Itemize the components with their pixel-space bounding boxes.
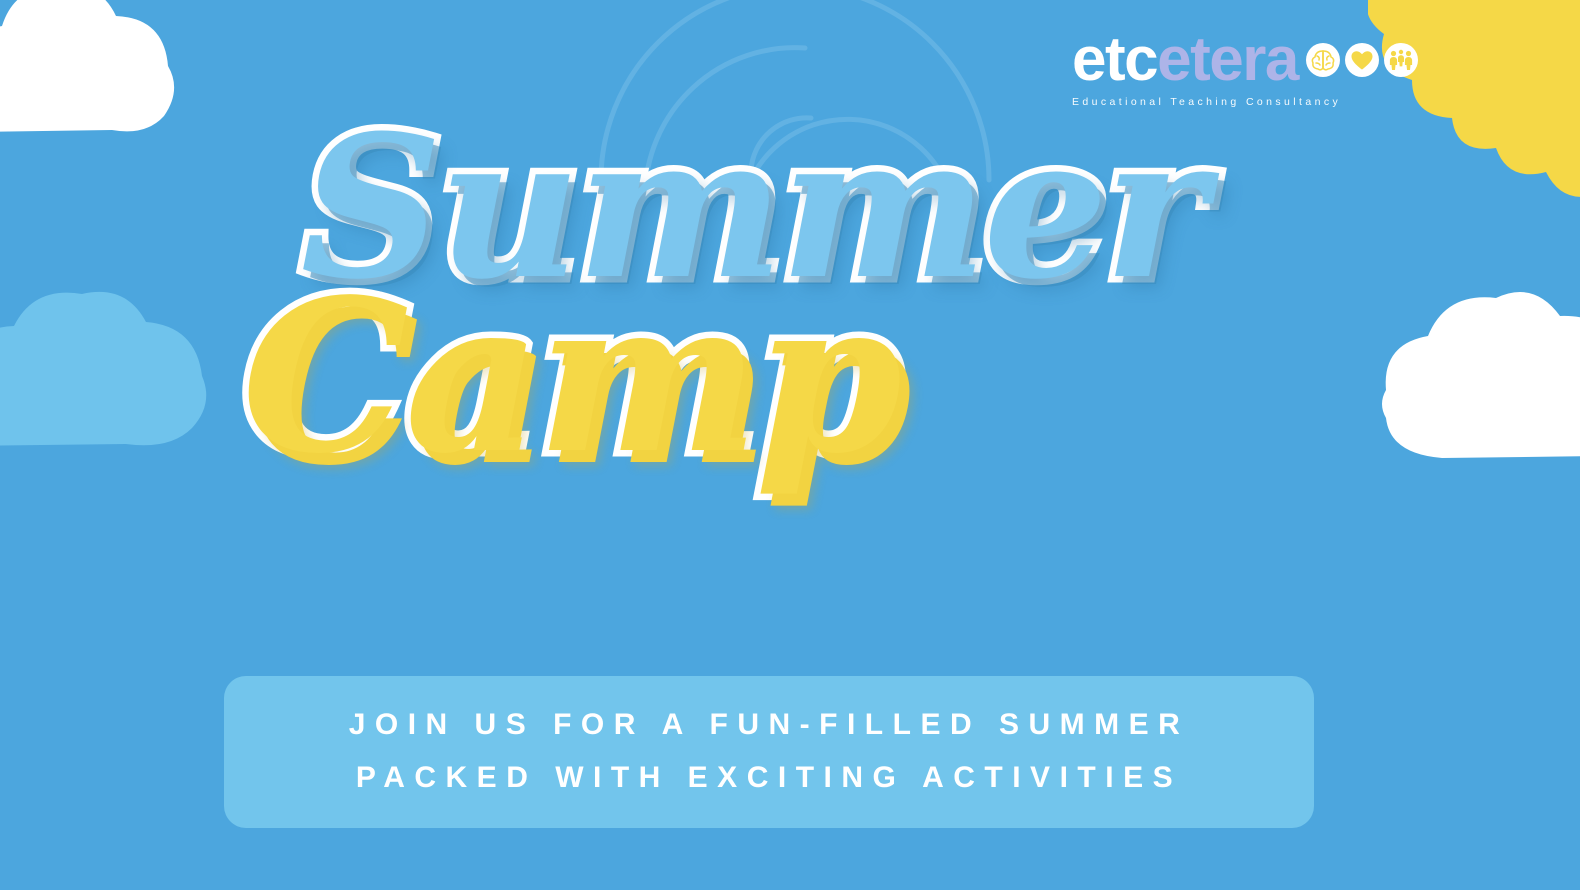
people-icon	[1384, 43, 1418, 77]
logo-icon-group	[1306, 43, 1418, 77]
logo-wordmark: etcetera	[1072, 28, 1532, 92]
headline-word-camp: Camp	[0, 280, 1360, 473]
logo-word-secondary: etera	[1157, 28, 1298, 92]
brand-logo[interactable]: etcetera	[1072, 28, 1532, 116]
poster-canvas: etcetera	[0, 0, 1580, 890]
brain-icon	[1306, 43, 1340, 77]
cloud-right-mid	[1372, 272, 1580, 467]
headline-group: Summer Camp	[0, 118, 1580, 492]
subtitle-line-2: PACKED WITH EXCITING ACTIVITIES	[254, 751, 1284, 804]
logo-tagline: Educational Teaching Consultancy	[1072, 96, 1532, 108]
logo-word-primary: etc	[1072, 28, 1157, 92]
subtitle-banner: JOIN US FOR A FUN-FILLED SUMMER PACKED W…	[224, 676, 1314, 828]
heart-icon	[1345, 43, 1379, 77]
subtitle-line-1: JOIN US FOR A FUN-FILLED SUMMER	[254, 698, 1284, 751]
radial-arcs-decoration	[565, 0, 1025, 340]
cloud-top-left	[0, 0, 190, 150]
cloud-left-mid	[0, 278, 220, 463]
headline-word-summer: Summer	[0, 118, 1542, 298]
